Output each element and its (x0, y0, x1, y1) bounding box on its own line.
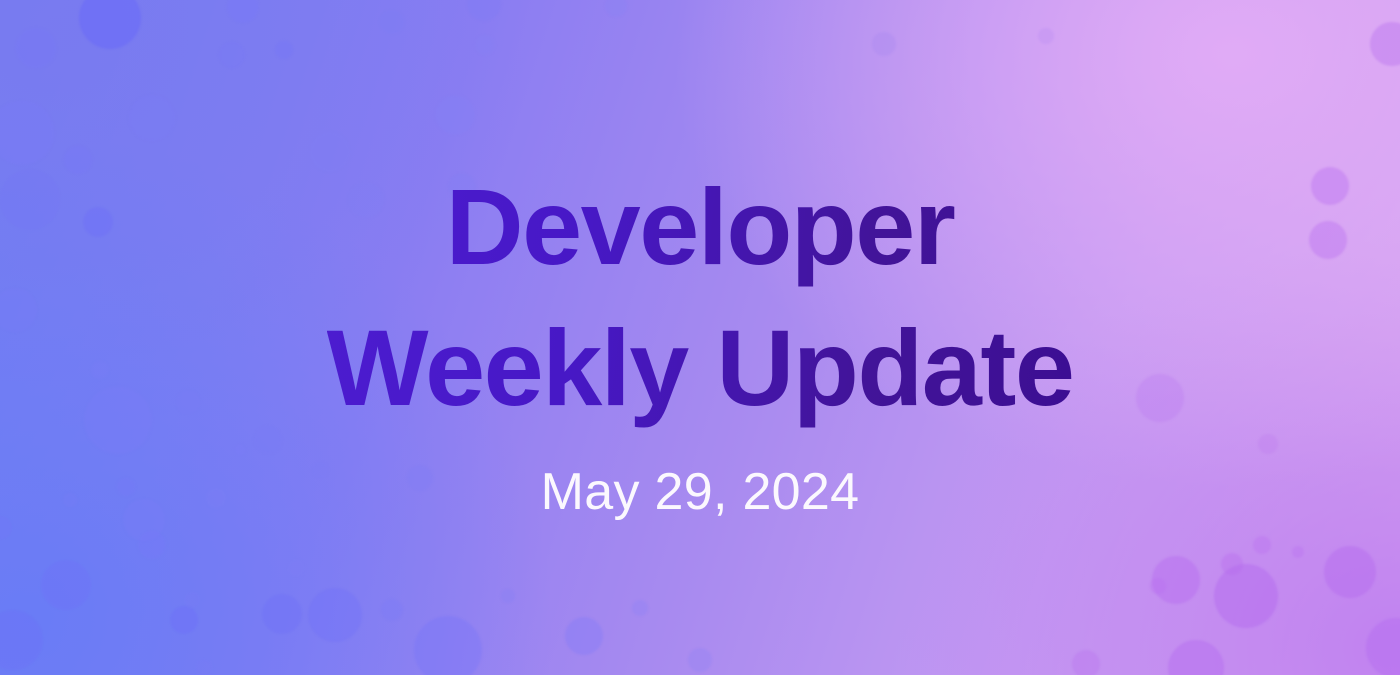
title-line-2: Weekly Update (327, 298, 1074, 438)
title-line-1: Developer (327, 157, 1074, 297)
page-title: Developer Weekly Update (327, 157, 1074, 438)
banner-date-subtitle: May 29, 2024 (541, 466, 860, 518)
weekly-update-banner: Developer Weekly Update May 29, 2024 (0, 0, 1400, 675)
banner-content: Developer Weekly Update May 29, 2024 (0, 0, 1400, 675)
